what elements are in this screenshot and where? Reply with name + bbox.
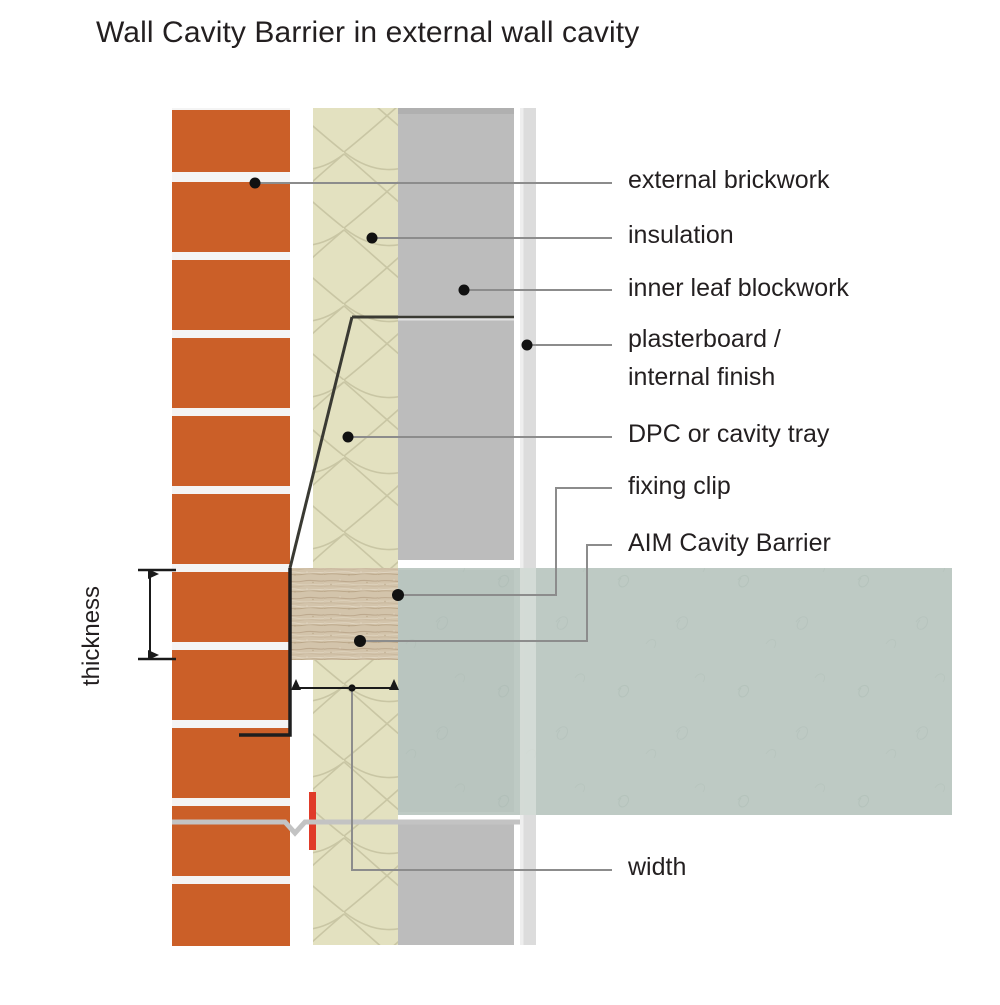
anchor-dpc	[343, 432, 354, 443]
brick-course	[172, 338, 290, 408]
brick-course	[172, 260, 290, 330]
anchor-plasterboard	[522, 340, 533, 351]
blockwork-layer	[398, 108, 514, 945]
highlight-overlay-panel	[398, 568, 952, 815]
brick-course	[172, 650, 290, 720]
anchor-external-brickwork	[250, 178, 261, 189]
anchor-inner-leaf-blockwork	[459, 285, 470, 296]
anchor-insulation	[367, 233, 378, 244]
wall-section-drawing	[0, 0, 1000, 1000]
anchor-fixing-clip	[392, 589, 404, 601]
thickness-dimension	[138, 570, 176, 659]
brick-course	[172, 416, 290, 486]
brick-course	[172, 110, 290, 172]
label-fixing-clip: fixing clip	[628, 472, 731, 501]
diagram-canvas: Wall Cavity Barrier in external wall cav…	[0, 0, 1000, 1000]
brick-course	[172, 884, 290, 946]
brick-course	[172, 494, 290, 564]
brick-course	[172, 182, 290, 252]
label-aim-cavity-barrier: AIM Cavity Barrier	[628, 529, 831, 558]
label-external-brickwork: external brickwork	[628, 166, 829, 195]
label-insulation: insulation	[628, 221, 734, 250]
label-thickness: thickness	[78, 546, 108, 686]
plasterboard-layer	[520, 108, 536, 945]
brick-course	[172, 806, 290, 876]
label-plasterboard-line1: plasterboard /	[628, 325, 781, 354]
label-dpc: DPC or cavity tray	[628, 420, 829, 449]
aim-cavity-barrier	[290, 568, 398, 660]
brick-course	[172, 728, 290, 798]
insulation-layer	[313, 108, 398, 945]
anchor-aim-cavity-barrier	[354, 635, 366, 647]
brick-course	[172, 572, 290, 642]
label-inner-leaf-blockwork: inner leaf blockwork	[628, 274, 849, 303]
label-plasterboard-line2: internal finish	[628, 363, 775, 392]
label-width: width	[628, 853, 686, 882]
